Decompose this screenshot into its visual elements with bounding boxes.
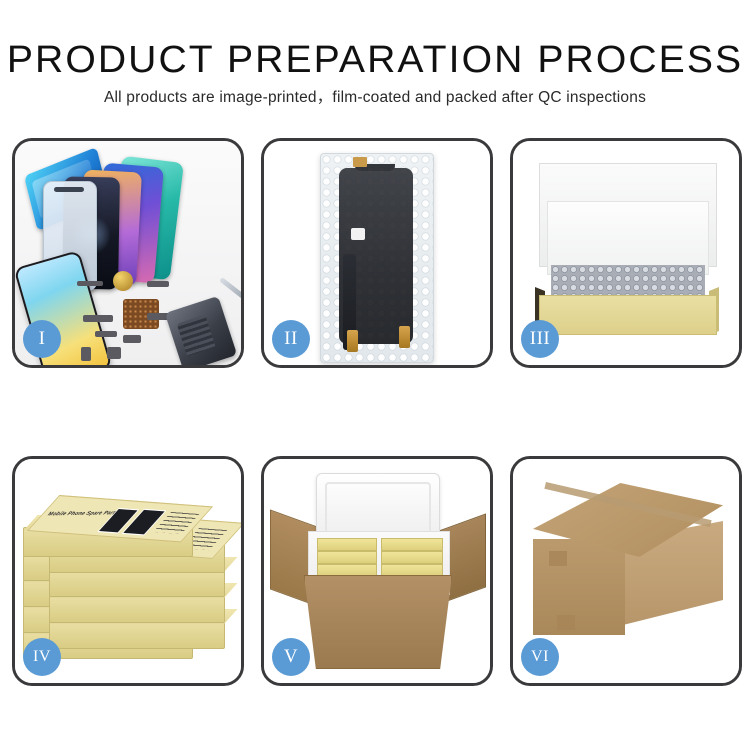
product-preparation-infographic: PRODUCT PREPARATION PROCESS All products… [0,0,750,750]
yellow-box-front-icon [539,295,717,335]
process-step-grid: I II [12,138,740,686]
gold-contact-tab-icon [399,326,410,348]
gold-top-strip-icon [353,157,367,167]
step-badge-5: V [272,638,310,676]
connector-part-icon [77,281,103,286]
header: PRODUCT PREPARATION PROCESS All products… [0,0,750,107]
carton-stamp-icon [557,615,575,630]
carton-body-icon [304,575,452,669]
stacked-box-icon [49,569,225,597]
page-title: PRODUCT PREPARATION PROCESS [0,40,750,80]
gray-bubble-wrap-icon [551,265,705,299]
yellow-package-icon [381,551,443,564]
step-badge-6: VI [521,638,559,676]
vibrator-part-icon [107,347,121,359]
step-panel-4: Mobile Phone Spare Parts Mobile Phone Sp… [12,456,244,686]
step-badge-4: IV [23,638,61,676]
antenna-part-icon [147,281,169,287]
carton-front-face-icon [533,539,625,635]
step-badge-1: I [23,320,61,358]
step-panel-1: I [12,138,244,368]
page-subtitle: All products are image-printed，film-coat… [0,89,750,107]
sim-tray-part-icon [81,347,91,361]
white-foam-sheet-icon [547,201,709,275]
ribbon-part-icon [95,331,117,337]
speaker-part-icon [113,271,133,291]
yellow-package-icon [317,538,377,551]
step-panel-3: III [510,138,742,368]
step-badge-2: II [272,320,310,358]
step-panel-2: II [261,138,493,368]
white-label-tab-icon [351,228,365,240]
gold-contact-tab-icon [347,330,358,352]
camera-part-icon [123,335,141,343]
step-badge-3: III [521,320,559,358]
step-panel-5: V [261,456,493,686]
stacked-box-icon [49,621,225,649]
yellow-package-icon [317,551,377,564]
flex-cable-part-icon [83,315,113,322]
step-panel-6: VI [510,456,742,686]
phone-back-housing-icon [165,296,237,365]
bubble-wrap-bag-icon [320,153,434,363]
yellow-package-icon [381,538,443,551]
stacked-box-icon [49,595,225,623]
box-label-brand: Mobile Phone Spare Parts [46,510,121,517]
spare-parts-group [77,269,227,365]
carton-stamp-icon [549,551,567,566]
